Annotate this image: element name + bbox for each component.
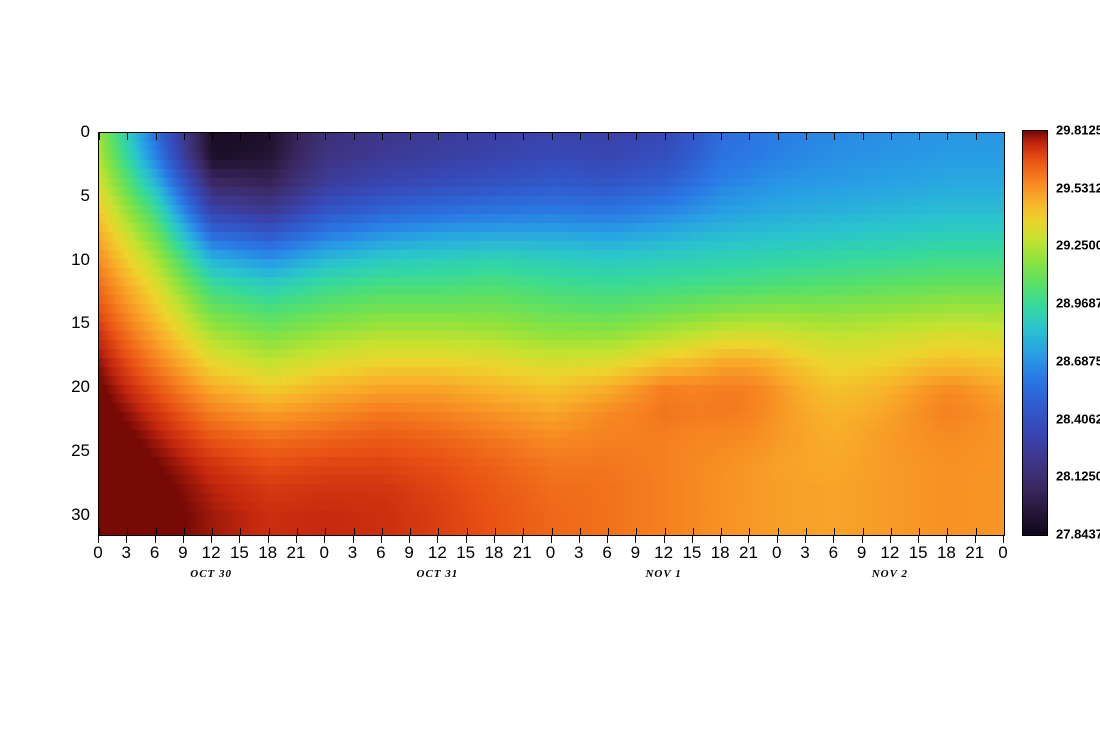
x-tick-label: 21: [281, 543, 311, 563]
x-tick-label: 18: [931, 543, 961, 563]
x-tick-mark-outer: [946, 536, 947, 543]
x-tick-label: 18: [253, 543, 283, 563]
x-tick-mark: [608, 133, 609, 140]
x-tick-mark-outer: [381, 536, 382, 543]
x-tick-mark-outer: [664, 536, 665, 543]
x-tick-mark: [297, 133, 298, 140]
x-tick-mark-outer: [635, 536, 636, 543]
x-tick-mark: [156, 528, 157, 535]
x-tick-label: 6: [818, 543, 848, 563]
x-tick-mark: [693, 133, 694, 140]
x-tick-mark-outer: [466, 536, 467, 543]
x-tick-mark: [834, 528, 835, 535]
x-tick-mark: [1004, 528, 1005, 535]
colorbar-tick-label: 29.5312: [1056, 180, 1100, 195]
x-tick-mark: [778, 133, 779, 140]
x-tick-mark: [976, 133, 977, 140]
x-tick-label: 12: [422, 543, 452, 563]
x-tick-mark: [127, 133, 128, 140]
colorbar-tick-label: 28.6875: [1056, 353, 1100, 368]
x-tick-mark: [495, 528, 496, 535]
x-tick-mark-outer: [494, 536, 495, 543]
x-tick-mark: [99, 528, 100, 535]
x-tick-label: 6: [366, 543, 396, 563]
x-tick-mark-outer: [268, 536, 269, 543]
x-tick-mark: [947, 133, 948, 140]
x-tick-mark: [919, 528, 920, 535]
x-tick-mark-outer: [353, 536, 354, 543]
x-tick-mark-outer: [155, 536, 156, 543]
x-tick-mark-outer: [833, 536, 834, 543]
x-tick-label: 3: [111, 543, 141, 563]
x-axis-day-label: OCT 30: [166, 568, 256, 580]
x-tick-mark-outer: [211, 536, 212, 543]
x-tick-mark: [156, 133, 157, 140]
colorbar-canvas: [1022, 130, 1048, 536]
x-tick-mark: [636, 528, 637, 535]
x-tick-label: 3: [790, 543, 820, 563]
x-tick-mark-outer: [890, 536, 891, 543]
x-tick-mark: [863, 528, 864, 535]
x-tick-mark: [354, 133, 355, 140]
x-tick-mark-outer: [296, 536, 297, 543]
x-tick-mark: [438, 133, 439, 140]
y-tick-label: 30: [50, 505, 90, 525]
x-tick-mark: [523, 133, 524, 140]
x-tick-mark: [863, 133, 864, 140]
x-tick-mark: [1004, 133, 1005, 140]
x-tick-mark: [184, 133, 185, 140]
colorbar-tick-label: 28.1250: [1056, 469, 1100, 484]
x-tick-mark: [438, 528, 439, 535]
x-tick-label: 3: [338, 543, 368, 563]
x-tick-mark-outer: [579, 536, 580, 543]
x-tick-mark: [297, 528, 298, 535]
x-tick-label: 0: [309, 543, 339, 563]
x-tick-label: 0: [83, 543, 113, 563]
x-tick-mark-outer: [324, 536, 325, 543]
x-tick-mark: [382, 528, 383, 535]
x-tick-mark: [523, 528, 524, 535]
x-tick-mark: [325, 528, 326, 535]
x-axis-day-label: NOV 1: [619, 568, 709, 580]
x-tick-label: 12: [875, 543, 905, 563]
x-tick-mark: [665, 528, 666, 535]
x-tick-mark: [608, 528, 609, 535]
x-tick-label: 15: [903, 543, 933, 563]
colorbar-tick-label: 28.9687: [1056, 296, 1100, 311]
x-axis-day-label: NOV 2: [845, 568, 935, 580]
x-tick-label: 15: [677, 543, 707, 563]
x-tick-mark: [778, 528, 779, 535]
x-tick-mark-outer: [551, 536, 552, 543]
x-tick-mark: [580, 528, 581, 535]
y-tick-label: 15: [50, 313, 90, 333]
x-tick-mark: [212, 133, 213, 140]
x-tick-label: 15: [224, 543, 254, 563]
x-tick-mark-outer: [1003, 536, 1004, 543]
colorbar-tick-label: 28.4062: [1056, 411, 1100, 426]
x-tick-mark: [891, 133, 892, 140]
x-tick-mark: [919, 133, 920, 140]
x-tick-label: 18: [479, 543, 509, 563]
colorbar: [1022, 130, 1046, 534]
x-tick-mark-outer: [777, 536, 778, 543]
colorbar-tick-label: 27.8437: [1056, 527, 1100, 542]
x-tick-mark: [467, 528, 468, 535]
x-tick-label: 0: [536, 543, 566, 563]
x-tick-label: 21: [960, 543, 990, 563]
x-tick-mark: [354, 528, 355, 535]
x-tick-mark: [269, 528, 270, 535]
x-tick-mark: [693, 528, 694, 535]
x-tick-label: 18: [705, 543, 735, 563]
x-tick-mark-outer: [437, 536, 438, 543]
x-tick-mark: [127, 528, 128, 535]
x-tick-mark-outer: [748, 536, 749, 543]
x-tick-mark-outer: [98, 536, 99, 543]
x-tick-label: 0: [762, 543, 792, 563]
x-tick-mark: [891, 528, 892, 535]
x-tick-mark: [552, 133, 553, 140]
y-tick-label: 20: [50, 377, 90, 397]
x-tick-label: 9: [168, 543, 198, 563]
x-tick-mark: [99, 133, 100, 140]
y-tick-label: 25: [50, 441, 90, 461]
y-tick-label: 10: [50, 250, 90, 270]
x-tick-mark-outer: [720, 536, 721, 543]
x-tick-mark: [410, 528, 411, 535]
x-tick-mark: [269, 133, 270, 140]
x-tick-mark: [552, 528, 553, 535]
x-tick-label: 6: [592, 543, 622, 563]
x-tick-mark: [410, 133, 411, 140]
x-tick-mark: [806, 133, 807, 140]
x-tick-label: 6: [140, 543, 170, 563]
x-tick-mark: [240, 133, 241, 140]
salinity-heatmap-plot: [98, 132, 1005, 536]
x-tick-mark: [665, 133, 666, 140]
x-axis-day-label: OCT 31: [392, 568, 482, 580]
x-tick-mark: [636, 133, 637, 140]
x-tick-mark-outer: [918, 536, 919, 543]
x-tick-mark: [467, 133, 468, 140]
x-tick-mark: [834, 133, 835, 140]
x-tick-mark: [749, 528, 750, 535]
x-tick-mark: [976, 528, 977, 535]
x-tick-label: 21: [507, 543, 537, 563]
x-tick-mark: [382, 133, 383, 140]
x-tick-mark: [947, 528, 948, 535]
x-tick-mark-outer: [805, 536, 806, 543]
x-tick-mark: [721, 133, 722, 140]
x-tick-label: 9: [620, 543, 650, 563]
x-tick-mark-outer: [183, 536, 184, 543]
y-tick-label: 5: [50, 186, 90, 206]
x-tick-mark: [184, 528, 185, 535]
x-tick-mark-outer: [975, 536, 976, 543]
heatmap-canvas: [99, 133, 1004, 535]
x-tick-label: 12: [196, 543, 226, 563]
x-tick-mark: [325, 133, 326, 140]
x-tick-label: 12: [649, 543, 679, 563]
x-tick-mark: [806, 528, 807, 535]
x-tick-mark-outer: [522, 536, 523, 543]
x-tick-label: 15: [451, 543, 481, 563]
x-tick-mark-outer: [126, 536, 127, 543]
x-tick-label: 9: [394, 543, 424, 563]
colorbar-tick-label: 29.2500: [1056, 238, 1100, 253]
y-tick-label: 0: [50, 122, 90, 142]
x-tick-mark: [580, 133, 581, 140]
colorbar-tick-label: 29.8125: [1056, 123, 1100, 138]
x-tick-mark: [212, 528, 213, 535]
x-tick-mark-outer: [862, 536, 863, 543]
x-tick-mark-outer: [239, 536, 240, 543]
x-tick-mark-outer: [409, 536, 410, 543]
x-tick-label: 3: [564, 543, 594, 563]
x-tick-label: 9: [847, 543, 877, 563]
x-tick-mark-outer: [692, 536, 693, 543]
x-tick-mark: [749, 133, 750, 140]
x-tick-mark: [721, 528, 722, 535]
x-tick-label: 21: [733, 543, 763, 563]
x-tick-mark-outer: [607, 536, 608, 543]
x-tick-mark: [495, 133, 496, 140]
x-tick-label: 0: [988, 543, 1018, 563]
x-tick-mark: [240, 528, 241, 535]
